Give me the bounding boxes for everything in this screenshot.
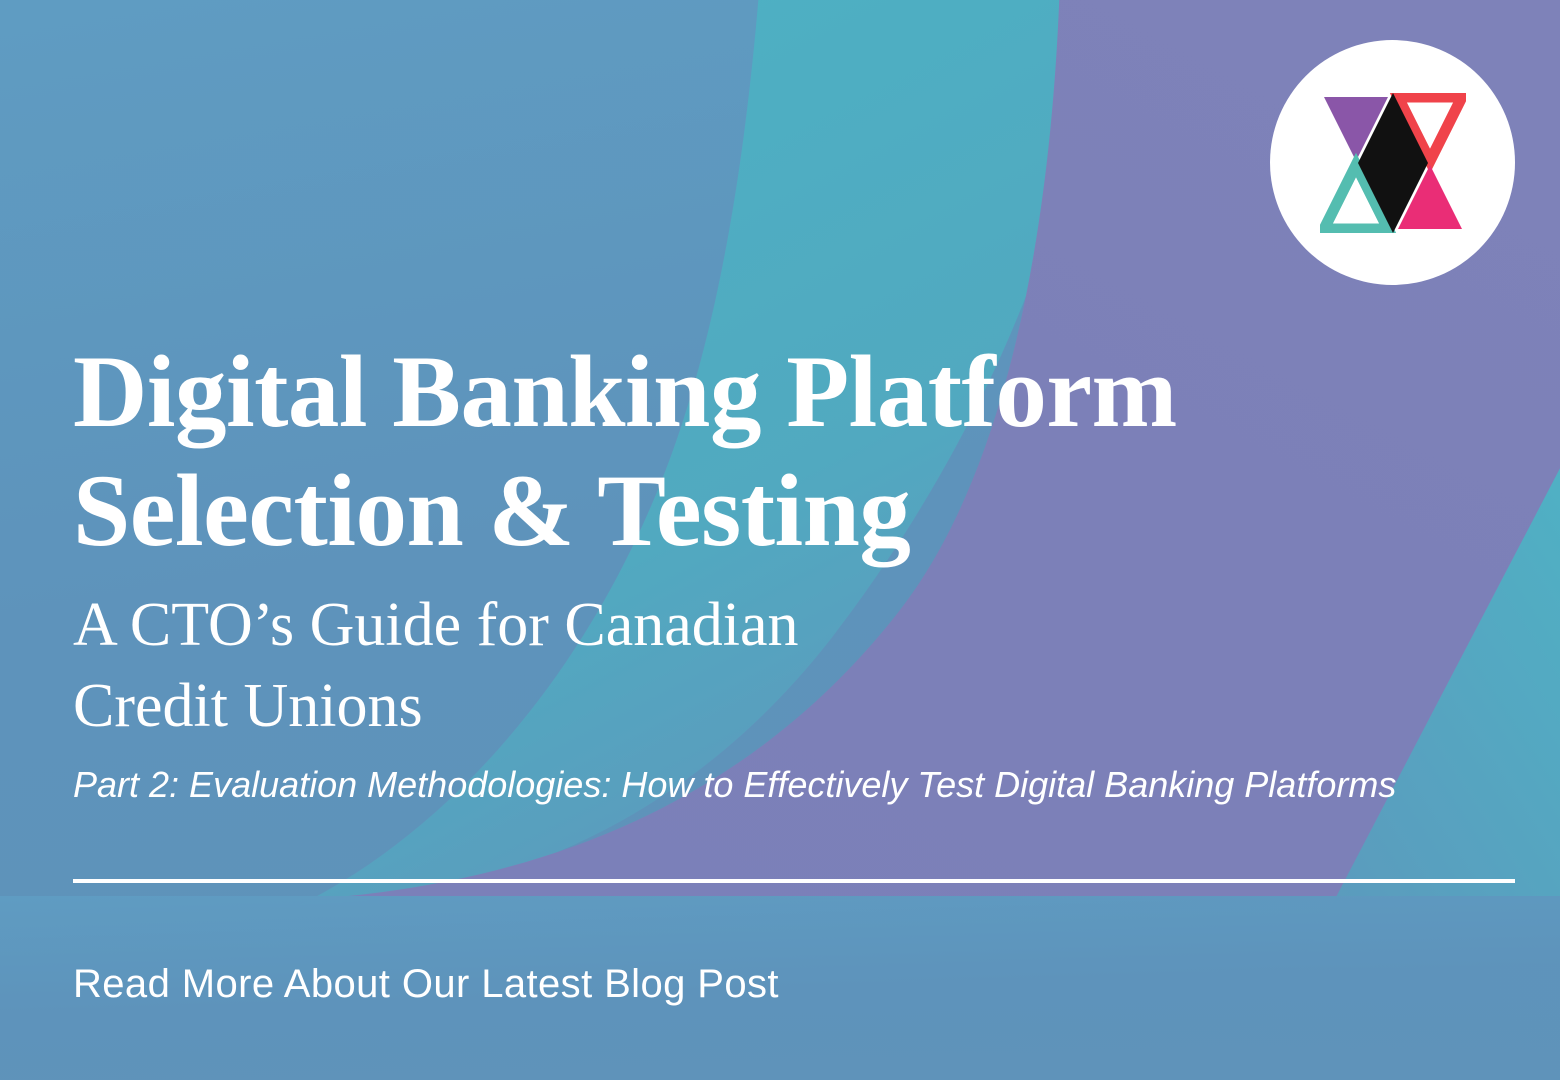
brand-logo-badge[interactable] <box>1270 40 1515 285</box>
divider <box>73 879 1515 883</box>
page-subtitle: A CTO’s Guide for Canadian Credit Unions <box>73 585 1073 746</box>
social-share-card: Digital Banking Platform Selection & Tes… <box>0 0 1560 1080</box>
card-content: Digital Banking Platform Selection & Tes… <box>0 0 1560 1080</box>
part-label: Part 2: Evaluation Methodologies: How to… <box>73 759 1473 811</box>
read-more-cta[interactable]: Read More About Our Latest Blog Post <box>73 957 779 1011</box>
page-title: Digital Banking Platform Selection & Tes… <box>73 333 1413 572</box>
brand-logo-icon <box>1320 93 1466 233</box>
